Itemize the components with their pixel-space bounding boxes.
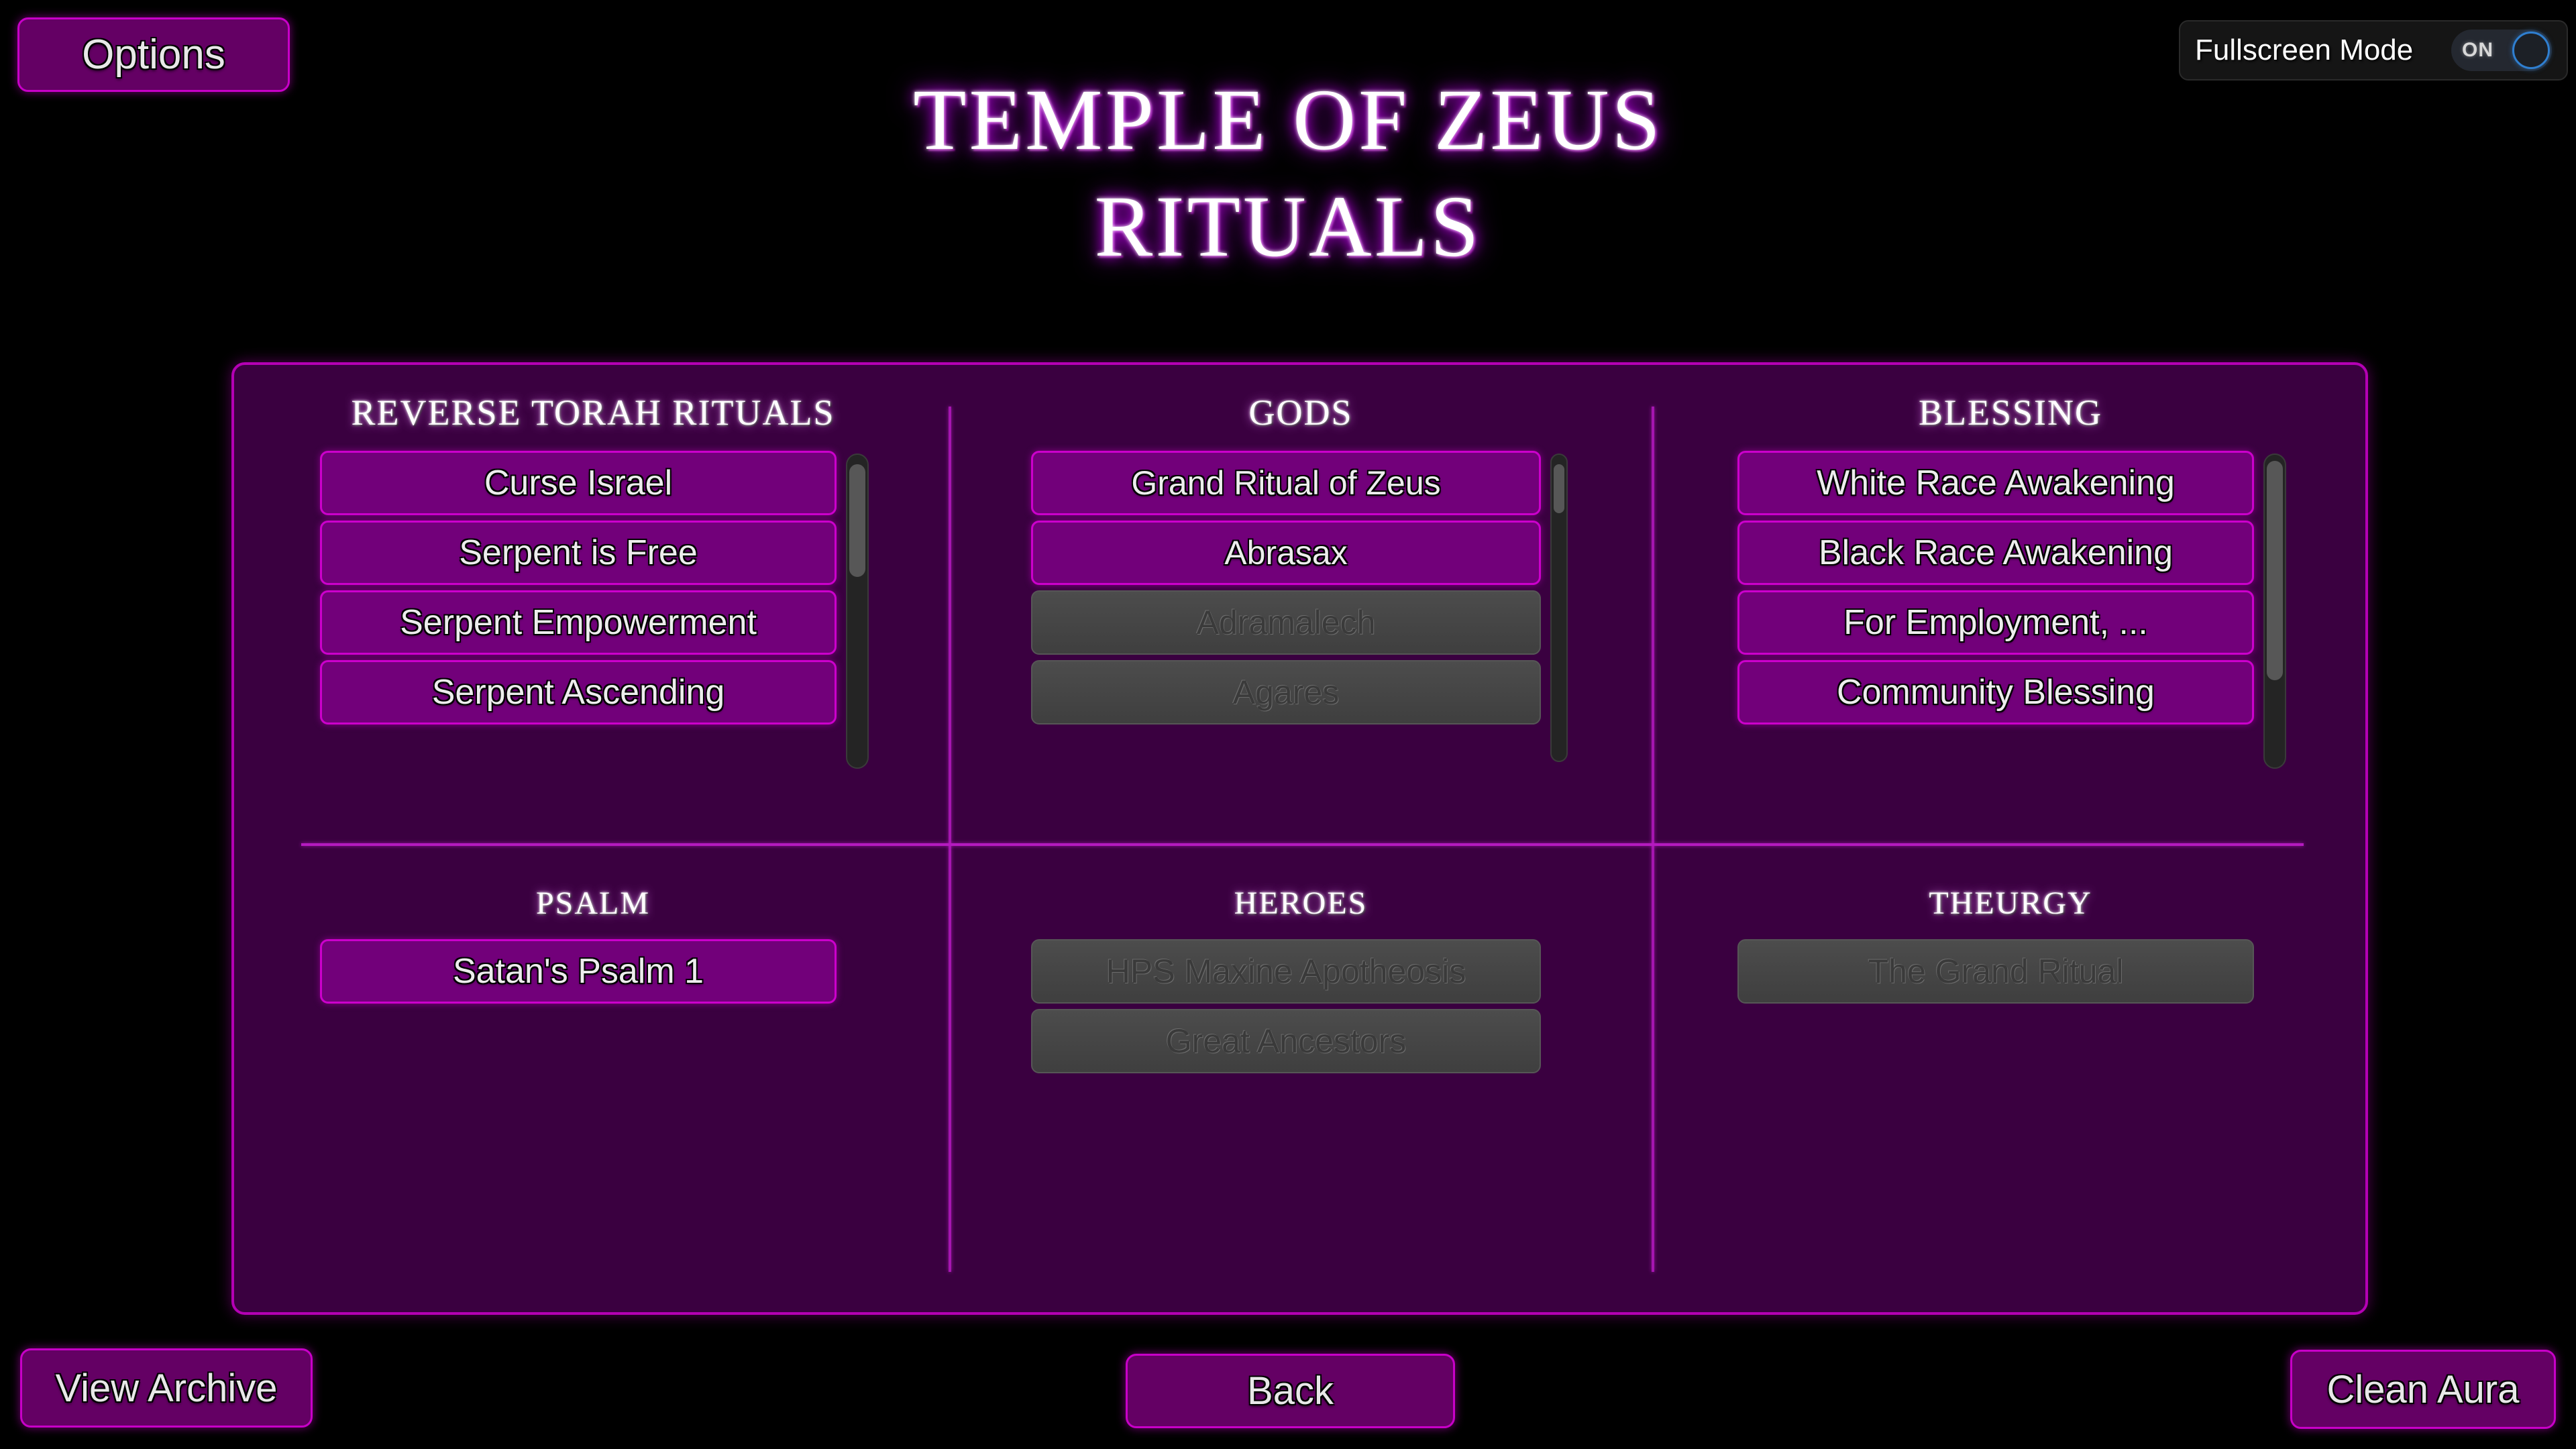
view-archive-button-label: View Archive (56, 1366, 278, 1411)
ritual-button[interactable]: For Employment, ... (1737, 590, 2254, 655)
page-title-line-1: TEMPLE OF ZEUS (0, 67, 2576, 174)
scrollbar-reverse-torah-rituals[interactable] (846, 453, 869, 769)
page-title-line-2: RITUALS (0, 174, 2576, 280)
scrollbar-thumb[interactable] (2267, 461, 2283, 680)
ritual-button[interactable]: Curse Israel (320, 451, 837, 515)
section-body-reverse-torah-rituals: Curse IsraelSerpent is FreeSerpent Empow… (248, 451, 938, 769)
section-body-blessing: White Race AwakeningBlack Race Awakening… (1665, 451, 2356, 769)
fullscreen-toggle-knob[interactable] (2512, 32, 2550, 69)
ritual-list-psalm: Satan's Psalm 1 (320, 939, 837, 1004)
ritual-button: HPS Maxine Apotheosis (1031, 939, 1541, 1004)
section-title-psalm: PSALM (248, 885, 938, 922)
ritual-button[interactable]: Abrasax (1031, 521, 1541, 585)
ritual-button[interactable]: Black Race Awakening (1737, 521, 2254, 585)
ritual-list-blessing: White Race AwakeningBlack Race Awakening… (1737, 451, 2254, 724)
divider-horizontal (301, 843, 2304, 846)
ritual-button: Agares (1031, 660, 1541, 724)
ritual-button[interactable]: Satan's Psalm 1 (320, 939, 837, 1004)
ritual-button[interactable]: Serpent Empowerment (320, 590, 837, 655)
divider-vertical-right (1652, 407, 1654, 1272)
ritual-button: Adramalech (1031, 590, 1541, 655)
rituals-panel: REVERSE TORAH RITUALSCurse IsraelSerpent… (231, 362, 2368, 1315)
scrollbar-blessing[interactable] (2263, 453, 2286, 769)
section-theurgy: THEURGYThe Grand Ritual (1665, 885, 2356, 1004)
ritual-list-heroes: HPS Maxine ApotheosisGreat Ancestors (1031, 939, 1541, 1073)
section-title-reverse-torah-rituals: REVERSE TORAH RITUALS (248, 392, 938, 433)
back-button-label: Back (1247, 1368, 1334, 1413)
scrollbar-gods[interactable] (1550, 453, 1568, 762)
ritual-list-reverse-torah-rituals: Curse IsraelSerpent is FreeSerpent Empow… (320, 451, 837, 724)
fullscreen-toggle[interactable]: ON (2451, 30, 2552, 71)
divider-vertical-left (949, 407, 951, 1272)
page-title: TEMPLE OF ZEUS RITUALS (0, 67, 2576, 280)
clean-aura-button[interactable]: Clean Aura (2290, 1350, 2556, 1429)
app-root: Options Fullscreen Mode ON TEMPLE OF ZEU… (0, 0, 2576, 1449)
section-gods: GODSGrand Ritual of ZeusAbrasaxAdramalec… (962, 392, 1640, 762)
options-button[interactable]: Options (17, 17, 290, 92)
ritual-list-theurgy: The Grand Ritual (1737, 939, 2254, 1004)
back-button[interactable]: Back (1126, 1354, 1455, 1428)
section-title-blessing: BLESSING (1665, 392, 2356, 433)
ritual-list-gods: Grand Ritual of ZeusAbrasaxAdramalechAga… (1031, 451, 1541, 724)
section-title-heroes: HEROES (962, 885, 1640, 922)
fullscreen-toggle-state: ON (2462, 39, 2493, 62)
fullscreen-mode-control[interactable]: Fullscreen Mode ON (2179, 20, 2568, 80)
section-reverse-torah-rituals: REVERSE TORAH RITUALSCurse IsraelSerpent… (248, 392, 938, 769)
section-title-gods: GODS (962, 392, 1640, 433)
ritual-button[interactable]: Serpent is Free (320, 521, 837, 585)
section-psalm: PSALMSatan's Psalm 1 (248, 885, 938, 1004)
ritual-button[interactable]: Serpent Ascending (320, 660, 837, 724)
section-heroes: HEROESHPS Maxine ApotheosisGreat Ancesto… (962, 885, 1640, 1073)
ritual-button: Great Ancestors (1031, 1009, 1541, 1073)
options-button-label: Options (82, 31, 225, 78)
scrollbar-thumb[interactable] (1554, 464, 1564, 513)
clean-aura-button-label: Clean Aura (2327, 1367, 2520, 1412)
ritual-button[interactable]: Community Blessing (1737, 660, 2254, 724)
ritual-button: The Grand Ritual (1737, 939, 2254, 1004)
section-blessing: BLESSINGWhite Race AwakeningBlack Race A… (1665, 392, 2356, 769)
scrollbar-thumb[interactable] (849, 464, 865, 577)
ritual-button[interactable]: Grand Ritual of Zeus (1031, 451, 1541, 515)
section-title-theurgy: THEURGY (1665, 885, 2356, 922)
ritual-button[interactable]: White Race Awakening (1737, 451, 2254, 515)
view-archive-button[interactable]: View Archive (20, 1348, 313, 1428)
section-body-gods: Grand Ritual of ZeusAbrasaxAdramalechAga… (962, 451, 1640, 762)
section-body-heroes: HPS Maxine ApotheosisGreat Ancestors (962, 939, 1640, 1073)
fullscreen-mode-label: Fullscreen Mode (2195, 34, 2413, 67)
section-body-psalm: Satan's Psalm 1 (248, 939, 938, 1004)
section-body-theurgy: The Grand Ritual (1665, 939, 2356, 1004)
